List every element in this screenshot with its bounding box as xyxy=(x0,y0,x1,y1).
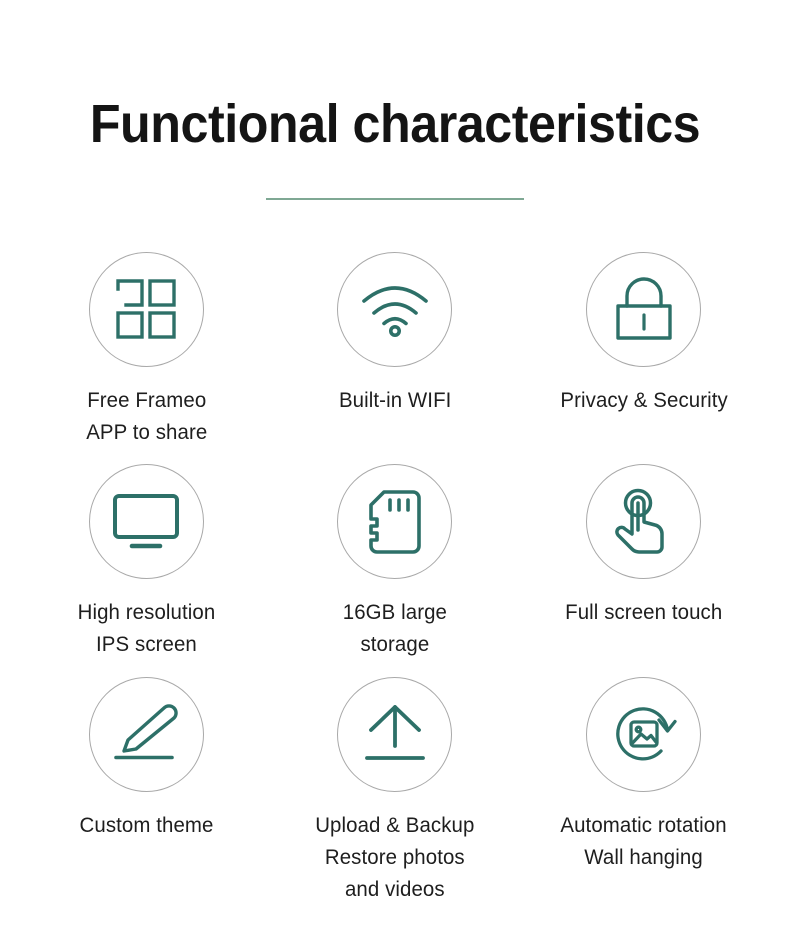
feature-label: High resolution IPS screen xyxy=(77,596,215,661)
icon-circle xyxy=(586,677,701,792)
feature-item-free-frameo-app: Free Frameo APP to share xyxy=(22,252,271,449)
icon-circle xyxy=(337,677,452,792)
touch-hand-icon xyxy=(612,488,676,556)
icon-circle xyxy=(586,252,701,367)
feature-label: Free Frameo APP to share xyxy=(86,384,207,449)
feature-label: Automatic rotation Wall hanging xyxy=(560,809,726,874)
rotate-photo-icon xyxy=(609,699,679,769)
feature-grid: Free Frameo APP to share Built-in WIFI xyxy=(0,252,790,906)
feature-label: Full screen touch xyxy=(565,596,722,628)
page-header: Functional characteristics xyxy=(0,0,790,200)
icon-circle xyxy=(89,677,204,792)
feature-item-automatic-rotation: Automatic rotation Wall hanging xyxy=(519,677,768,906)
feature-label: 16GB large storage xyxy=(343,596,447,661)
feature-item-full-screen-touch: Full screen touch xyxy=(519,464,768,661)
icon-circle xyxy=(337,252,452,367)
wifi-icon xyxy=(360,281,430,337)
monitor-icon xyxy=(112,493,180,551)
upload-arrow-icon xyxy=(362,703,428,765)
icon-circle xyxy=(89,252,204,367)
feature-label: Built-in WIFI xyxy=(339,384,451,416)
feature-item-upload-backup: Upload & Backup Restore photos and video… xyxy=(271,677,520,906)
feature-item-ips-screen: High resolution IPS screen xyxy=(22,464,271,661)
feature-item-storage: 16GB large storage xyxy=(271,464,520,661)
feature-highlights-page: Functional characteristics Free Frameo A… xyxy=(0,0,790,937)
sd-card-icon xyxy=(368,489,422,555)
lock-icon xyxy=(613,276,675,342)
page-title: Functional characteristics xyxy=(28,96,763,153)
icon-circle xyxy=(586,464,701,579)
title-divider xyxy=(266,198,524,200)
feature-item-custom-theme: Custom theme xyxy=(22,677,271,906)
feature-item-builtin-wifi: Built-in WIFI xyxy=(271,252,520,449)
icon-circle xyxy=(337,464,452,579)
feature-label: Custom theme xyxy=(79,809,213,841)
icon-circle xyxy=(89,464,204,579)
pen-icon xyxy=(112,704,180,764)
feature-label: Privacy & Security xyxy=(560,384,727,416)
feature-item-privacy-security: Privacy & Security xyxy=(519,252,768,449)
app-grid-icon xyxy=(113,276,179,342)
feature-label: Upload & Backup Restore photos and video… xyxy=(315,809,474,906)
